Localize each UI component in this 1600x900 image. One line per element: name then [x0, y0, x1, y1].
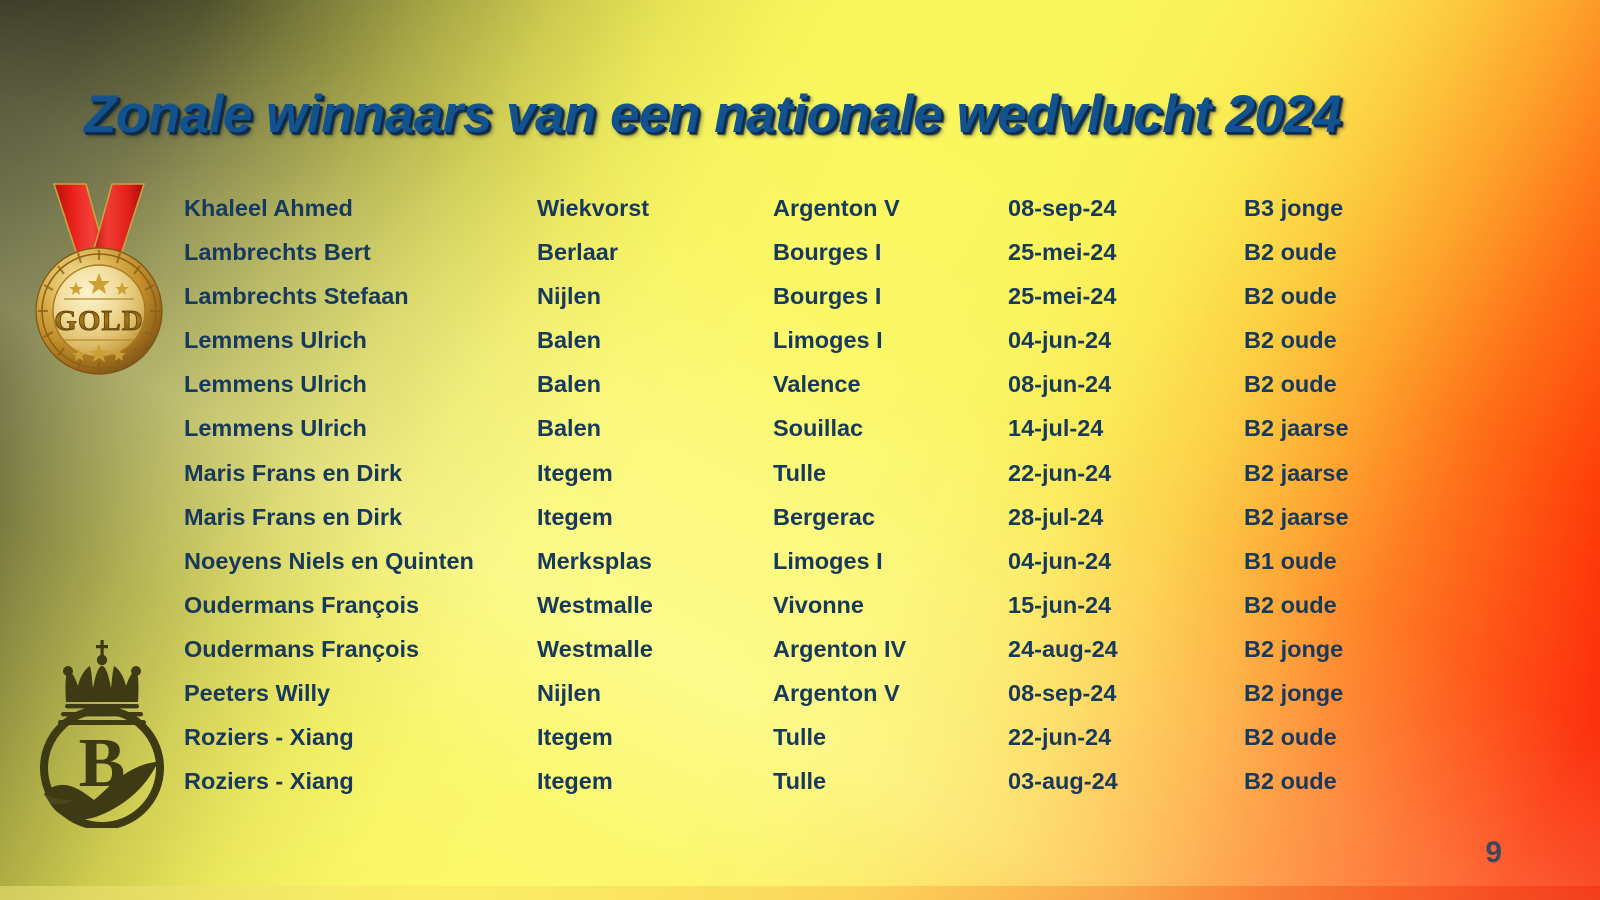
cell-name: Roziers - Xiang	[184, 767, 354, 795]
cell-date: 08-sep-24	[1008, 194, 1116, 222]
cell-name: Lemmens Ulrich	[184, 326, 367, 354]
cell-club: Nijlen	[537, 282, 601, 310]
cell-club: Westmalle	[537, 591, 653, 619]
cell-category: B2 jaarse	[1244, 459, 1349, 487]
cell-race: Argenton V	[773, 679, 900, 707]
table-row: Oudermans François Westmalle Vivonne 15-…	[0, 591, 1600, 635]
cell-date: 25-mei-24	[1008, 282, 1116, 310]
cell-date: 14-jul-24	[1008, 414, 1103, 442]
cell-category: B2 jaarse	[1244, 414, 1349, 442]
cell-category: B2 oude	[1244, 326, 1337, 354]
cell-club: Balen	[537, 414, 601, 442]
cell-name: Oudermans François	[184, 591, 419, 619]
cell-race: Tulle	[773, 723, 826, 751]
cell-category: B2 oude	[1244, 370, 1337, 398]
cell-club: Itegem	[537, 503, 613, 531]
cell-date: 22-jun-24	[1008, 459, 1111, 487]
cell-name: Roziers - Xiang	[184, 723, 354, 751]
cell-name: Peeters Willy	[184, 679, 330, 707]
cell-category: B2 jaarse	[1244, 503, 1349, 531]
cell-club: Itegem	[537, 459, 613, 487]
table-row: Lemmens Ulrich Balen Souillac 14-jul-24 …	[0, 414, 1600, 458]
cell-category: B2 oude	[1244, 767, 1337, 795]
cell-race: Tulle	[773, 767, 826, 795]
page-title: Zonale winnaars van een nationale wedvlu…	[84, 84, 1514, 145]
winners-table: Khaleel Ahmed Wiekvorst Argenton V 08-se…	[0, 194, 1600, 811]
cell-date: 08-jun-24	[1008, 370, 1111, 398]
table-row: Roziers - Xiang Itegem Tulle 22-jun-24 B…	[0, 723, 1600, 767]
cell-date: 08-sep-24	[1008, 679, 1116, 707]
cell-category: B2 jonge	[1244, 679, 1343, 707]
slide-bottom-edge	[0, 886, 1600, 900]
cell-race: Valence	[773, 370, 861, 398]
cell-race: Tulle	[773, 459, 826, 487]
cell-race: Bourges I	[773, 238, 881, 266]
table-row: Roziers - Xiang Itegem Tulle 03-aug-24 B…	[0, 767, 1600, 811]
table-row: Maris Frans en Dirk Itegem Tulle 22-jun-…	[0, 459, 1600, 503]
cell-date: 28-jul-24	[1008, 503, 1103, 531]
table-row: Lemmens Ulrich Balen Limoges I 04-jun-24…	[0, 326, 1600, 370]
cell-race: Bergerac	[773, 503, 875, 531]
cell-name: Maris Frans en Dirk	[184, 503, 402, 531]
table-row: Maris Frans en Dirk Itegem Bergerac 28-j…	[0, 503, 1600, 547]
cell-race: Limoges I	[773, 547, 883, 575]
cell-date: 22-jun-24	[1008, 723, 1111, 751]
cell-name: Lemmens Ulrich	[184, 414, 367, 442]
table-row: Lambrechts Stefaan Nijlen Bourges I 25-m…	[0, 282, 1600, 326]
cell-race: Argenton V	[773, 194, 900, 222]
table-row: Noeyens Niels en Quinten Merksplas Limog…	[0, 547, 1600, 591]
cell-club: Berlaar	[537, 238, 618, 266]
cell-category: B3 jonge	[1244, 194, 1343, 222]
cell-name: Khaleel Ahmed	[184, 194, 353, 222]
cell-club: Itegem	[537, 767, 613, 795]
cell-date: 04-jun-24	[1008, 547, 1111, 575]
cell-date: 04-jun-24	[1008, 326, 1111, 354]
cell-date: 15-jun-24	[1008, 591, 1111, 619]
cell-category: B2 oude	[1244, 238, 1337, 266]
cell-name: Oudermans François	[184, 635, 419, 663]
cell-club: Wiekvorst	[537, 194, 649, 222]
cell-club: Merksplas	[537, 547, 652, 575]
cell-date: 24-aug-24	[1008, 635, 1118, 663]
cell-race: Souillac	[773, 414, 863, 442]
cell-race: Argenton IV	[773, 635, 906, 663]
table-row: Lemmens Ulrich Balen Valence 08-jun-24 B…	[0, 370, 1600, 414]
cell-name: Maris Frans en Dirk	[184, 459, 402, 487]
cell-club: Balen	[537, 326, 601, 354]
cell-club: Balen	[537, 370, 601, 398]
cell-club: Itegem	[537, 723, 613, 751]
cell-name: Noeyens Niels en Quinten	[184, 547, 474, 575]
cell-club: Nijlen	[537, 679, 601, 707]
cell-race: Vivonne	[773, 591, 864, 619]
presentation-slide: Zonale winnaars van een nationale wedvlu…	[0, 0, 1600, 900]
cell-name: Lambrechts Bert	[184, 238, 371, 266]
cell-category: B2 oude	[1244, 282, 1337, 310]
page-number: 9	[1485, 836, 1502, 870]
cell-race: Limoges I	[773, 326, 883, 354]
cell-category: B2 oude	[1244, 591, 1337, 619]
cell-name: Lambrechts Stefaan	[184, 282, 409, 310]
table-row: Lambrechts Bert Berlaar Bourges I 25-mei…	[0, 238, 1600, 282]
cell-category: B2 jonge	[1244, 635, 1343, 663]
cell-name: Lemmens Ulrich	[184, 370, 367, 398]
table-row: Oudermans François Westmalle Argenton IV…	[0, 635, 1600, 679]
table-row: Khaleel Ahmed Wiekvorst Argenton V 08-se…	[0, 194, 1600, 238]
cell-category: B2 oude	[1244, 723, 1337, 751]
cell-category: B1 oude	[1244, 547, 1337, 575]
cell-date: 25-mei-24	[1008, 238, 1116, 266]
cell-date: 03-aug-24	[1008, 767, 1118, 795]
cell-club: Westmalle	[537, 635, 653, 663]
table-row: Peeters Willy Nijlen Argenton V 08-sep-2…	[0, 679, 1600, 723]
cell-race: Bourges I	[773, 282, 881, 310]
